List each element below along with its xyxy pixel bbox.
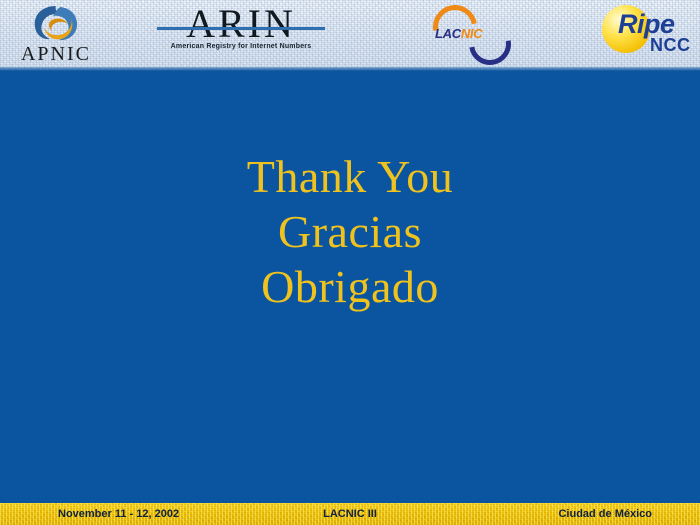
title-line-spanish: Gracias xyxy=(0,204,700,259)
apnic-wordmark: APNIC xyxy=(8,43,104,65)
arin-rule-line xyxy=(157,27,325,30)
lacnic-wordmark: LACNIC xyxy=(435,26,515,41)
lacnic-logo: LACNIC xyxy=(425,4,517,60)
thank-you-title-block: Thank You Gracias Obrigado xyxy=(0,149,700,314)
title-line-portuguese: Obrigado xyxy=(0,259,700,314)
lacnic-wordmark-lac: LAC xyxy=(435,26,461,41)
ripe-ncc-logo: Ripe NCC xyxy=(600,3,696,61)
presentation-slide: APNIC ARIN American Registry for Interne… xyxy=(0,0,700,525)
apnic-logo: APNIC xyxy=(8,3,104,67)
ripe-ncc-subwordmark: NCC xyxy=(650,36,691,55)
arin-tagline: American Registry for Internet Numbers xyxy=(155,43,327,50)
slide-footer-band: November 11 - 12, 2002 LACNIC III Ciudad… xyxy=(0,503,700,525)
slide-header-band: APNIC ARIN American Registry for Interne… xyxy=(0,0,700,71)
lacnic-wordmark-nic: NIC xyxy=(461,26,483,41)
arin-logo: ARIN American Registry for Internet Numb… xyxy=(155,5,327,55)
footer-location: Ciudad de México xyxy=(558,507,652,521)
title-line-english: Thank You xyxy=(0,149,700,204)
slide-body: Thank You Gracias Obrigado xyxy=(0,71,700,503)
apnic-swirl-icon xyxy=(30,3,82,45)
arin-wordmark: ARIN xyxy=(155,3,327,45)
